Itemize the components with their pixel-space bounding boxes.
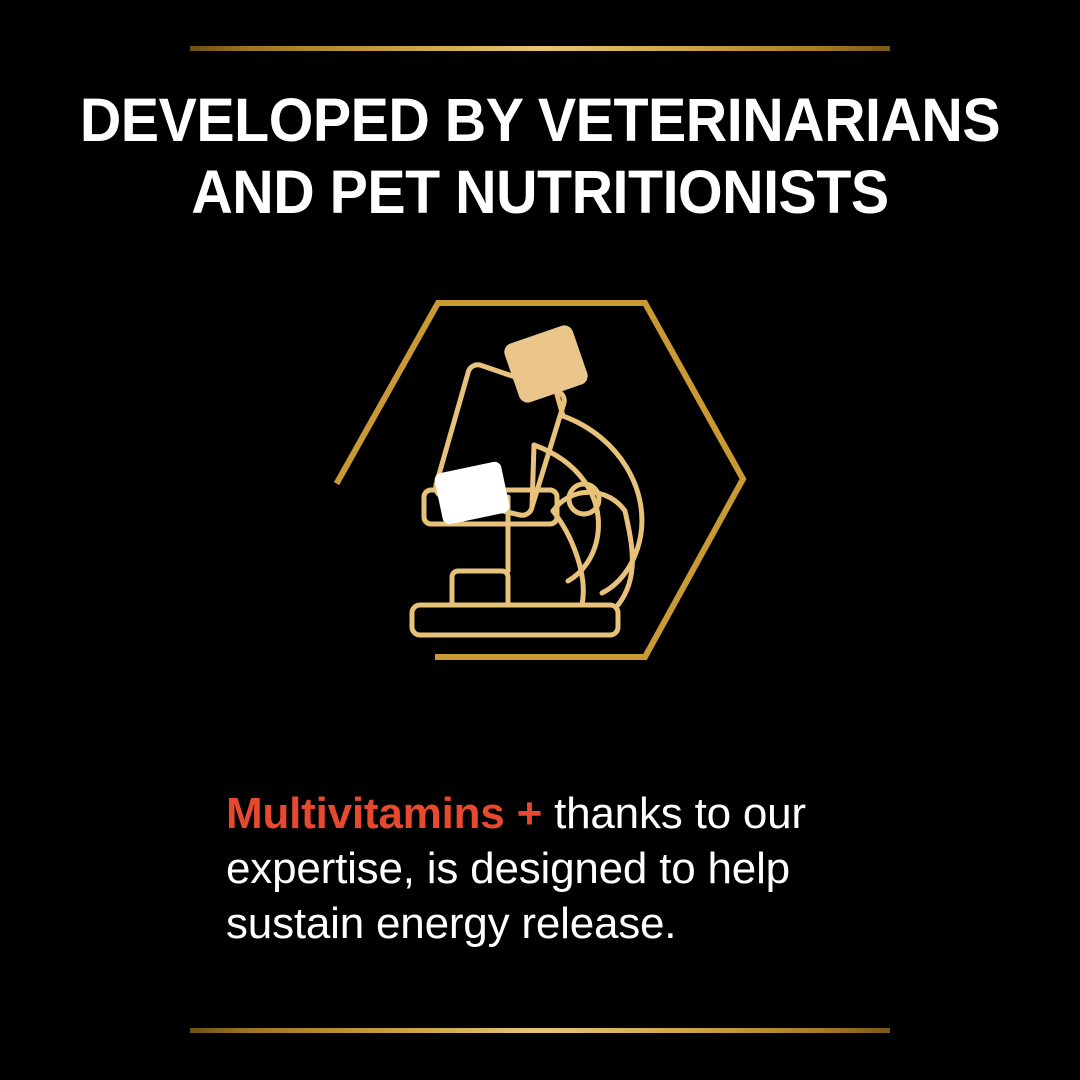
microscope-eyepiece-icon: [502, 323, 590, 405]
page-title: DEVELOPED BY VETERINARIANS AND PET NUTRI…: [32, 84, 1047, 228]
body-copy: Multivitamins + thanks to our expertise,…: [226, 786, 886, 951]
microscope-slide-icon: [433, 460, 510, 525]
bottom-gold-divider: [190, 1028, 890, 1033]
microscope-emblem: [320, 285, 760, 675]
top-gold-divider: [190, 46, 890, 51]
accent-product-name: Multivitamins +: [226, 789, 542, 838]
promo-card: DEVELOPED BY VETERINARIANS AND PET NUTRI…: [0, 0, 1080, 1080]
